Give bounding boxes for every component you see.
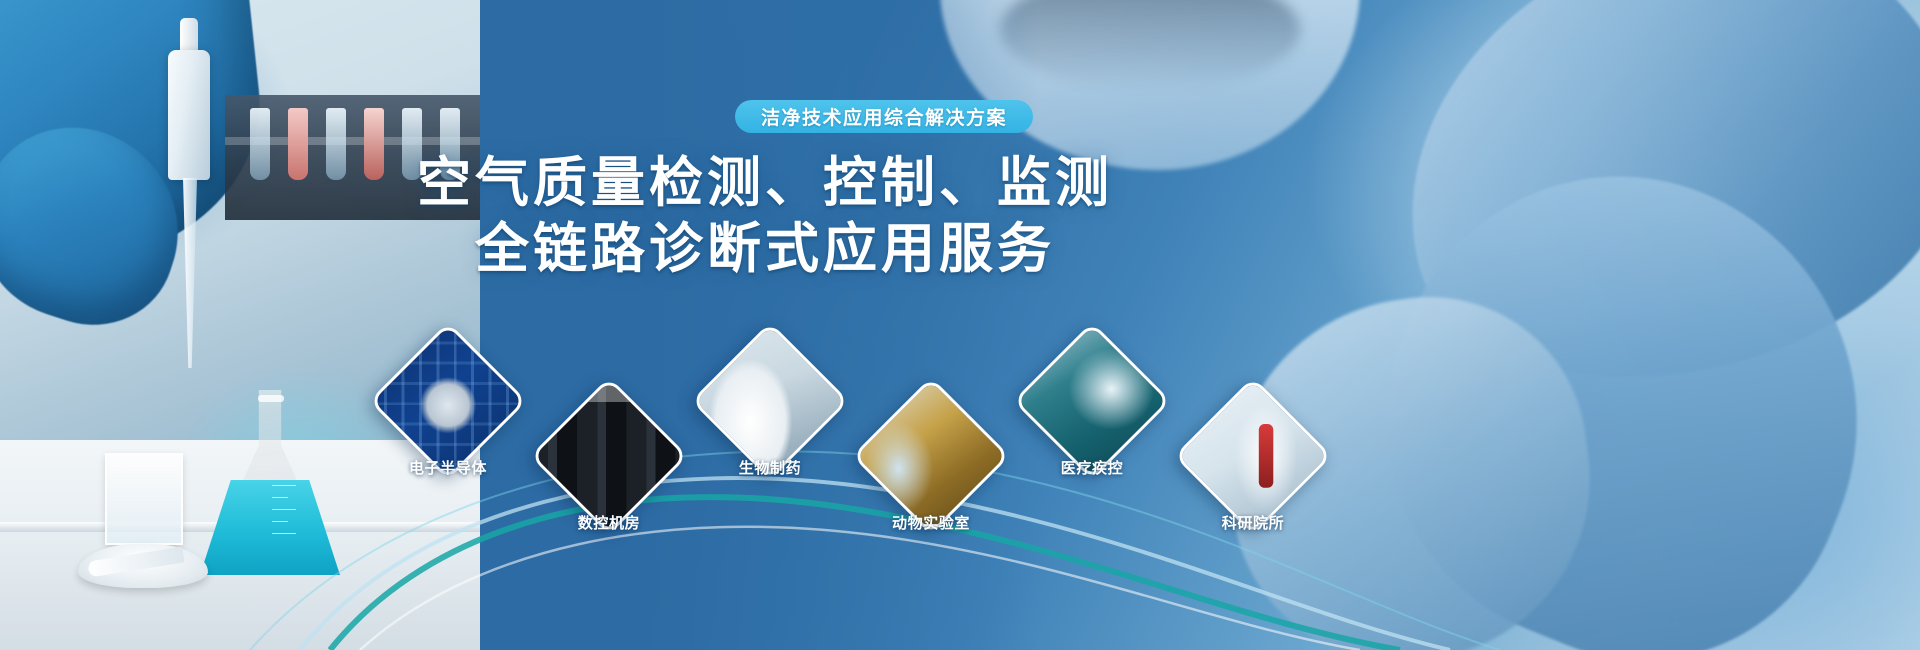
category-item-biopharma[interactable]: 生物制药: [714, 345, 826, 457]
category-item-animal-lab[interactable]: 动物实验室: [875, 400, 987, 512]
category-label: 科研院所: [1222, 512, 1284, 533]
category-item-server-room[interactable]: 数控机房: [553, 400, 665, 512]
category-label: 数控机房: [578, 512, 640, 533]
category-label: 动物实验室: [892, 512, 970, 533]
category-label: 电子半导体: [409, 457, 487, 478]
category-diamond-row: 电子半导体 数控机房 生物制药 动物实验室 医疗疾控: [0, 0, 1920, 650]
category-item-medical[interactable]: 医疗疾控: [1036, 345, 1148, 457]
category-label: 医疗疾控: [1061, 457, 1123, 478]
category-item-research[interactable]: 科研院所: [1197, 400, 1309, 512]
hero-banner: 洁净技术应用综合解决方案 空气质量检测、控制、监测 全链路诊断式应用服务 电子半…: [0, 0, 1920, 650]
category-label: 生物制药: [739, 457, 801, 478]
category-item-semiconductor[interactable]: 电子半导体: [392, 345, 504, 457]
